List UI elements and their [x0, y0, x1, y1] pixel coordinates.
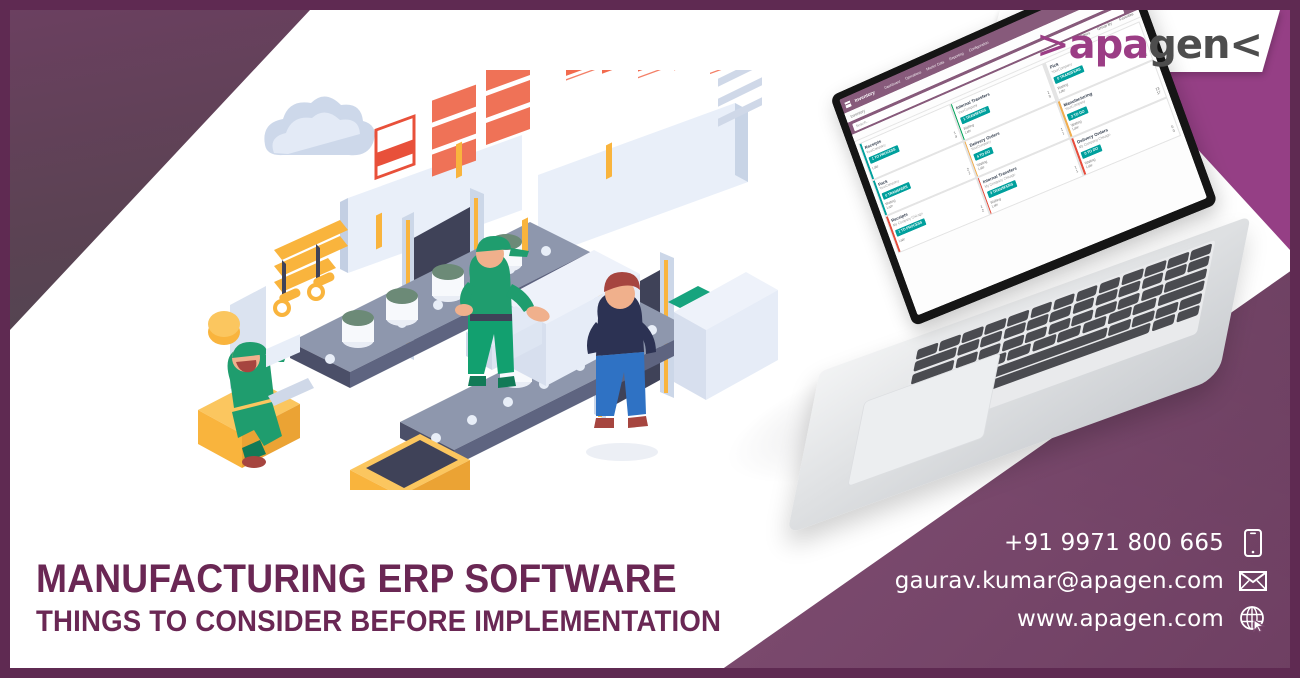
contact-email-text: gaurav.kumar@apagen.com: [895, 568, 1224, 594]
stat-label: Late: [1072, 125, 1080, 131]
stat-label: Late: [886, 204, 893, 210]
page-title: MANUFACTURING ERP SOFTWARE: [36, 558, 729, 600]
stat-label: [899, 243, 900, 247]
stat-label: Late: [978, 165, 985, 171]
nav-item-reporting[interactable]: Reporting: [949, 51, 964, 61]
logo-bracket-close: <: [1229, 22, 1262, 68]
contact-block: +91 9971 800 665 gaurav.kumar@apagen.com…: [895, 524, 1268, 638]
logo-text-gen: gen: [1148, 22, 1229, 68]
stat-value: 17: [1156, 90, 1161, 95]
stat-value: 1: [1062, 131, 1065, 136]
stat-value: 1: [1075, 169, 1078, 174]
contact-row-phone[interactable]: +91 9971 800 665: [895, 524, 1268, 562]
nav-item-operations[interactable]: Operations: [905, 70, 922, 81]
stat-value: 4: [954, 134, 957, 138]
cloud-icon: [264, 96, 374, 155]
stat-label: Late: [1058, 88, 1066, 94]
logo-text-apa: apa: [1069, 22, 1149, 68]
banner-root: >apagen<: [0, 0, 1300, 678]
contact-website-text: www.apagen.com: [1017, 606, 1224, 632]
contact-phone-text: +91 9971 800 665: [1004, 530, 1224, 556]
headline-block: MANUFACTURING ERP SOFTWARE THINGS TO CON…: [36, 558, 781, 640]
stat-value: 0: [1172, 128, 1175, 133]
stat-label: Late: [991, 202, 998, 208]
logo-bracket-open: >: [1036, 22, 1069, 68]
phone-icon: [1238, 528, 1268, 558]
stat-label: Late: [1085, 163, 1093, 169]
contact-row-email[interactable]: gaurav.kumar@apagen.com: [895, 562, 1268, 600]
stat-value: 2: [968, 171, 971, 175]
page-subtitle: THINGS TO CONSIDER BEFORE IMPLEMENTATION: [36, 604, 721, 640]
globe-cursor-icon: [1238, 604, 1268, 634]
stat-label: [873, 170, 874, 174]
stat-value: 9: [1048, 94, 1051, 99]
apps-grid-icon[interactable]: [844, 100, 851, 108]
contact-row-website[interactable]: www.apagen.com: [895, 600, 1268, 638]
company-logo: >apagen<: [1036, 22, 1262, 68]
laptop-mockup: Inventory Dashboard Operations Master Da…: [700, 40, 1290, 510]
banner-inner: >apagen<: [10, 10, 1290, 668]
nav-item-dashboard[interactable]: Dashboard: [884, 79, 901, 90]
stat-label: Late: [964, 128, 971, 134]
envelope-icon: [1238, 566, 1268, 596]
stat-value: 2: [981, 208, 984, 212]
